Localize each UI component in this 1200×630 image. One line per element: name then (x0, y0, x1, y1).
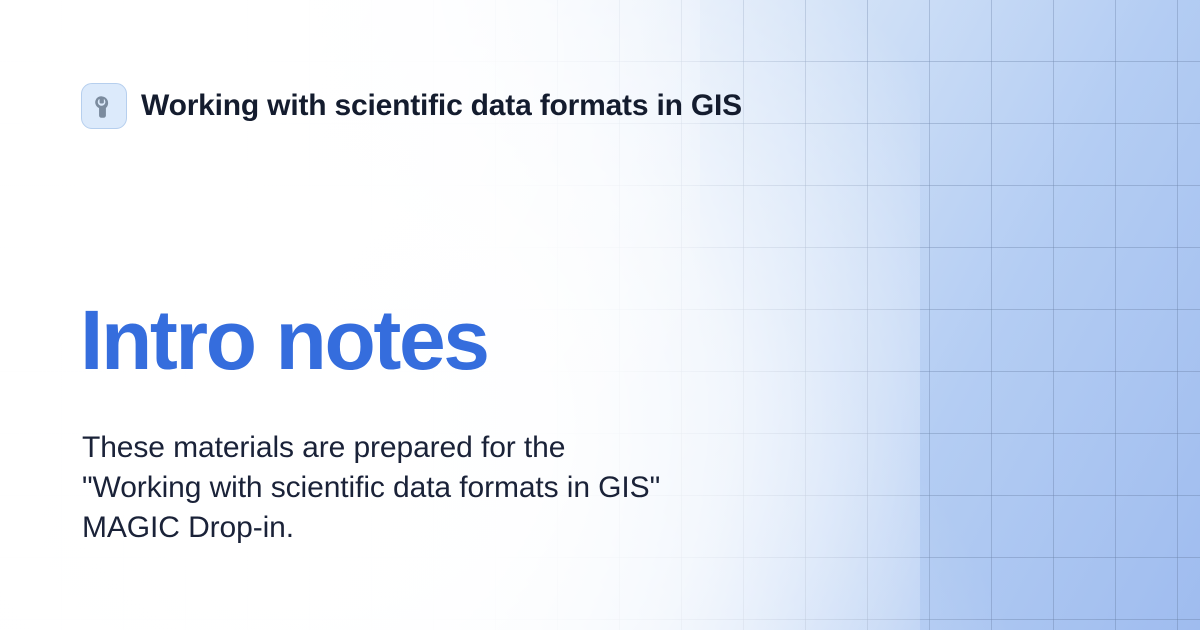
page-title: Intro notes (80, 298, 488, 382)
wrench-icon-badge (81, 83, 127, 129)
wrench-icon (91, 93, 117, 119)
slide-card: Working with scientific data formats in … (0, 0, 1200, 630)
page-description: These materials are prepared for the "Wo… (82, 428, 660, 548)
header-row: Working with scientific data formats in … (81, 83, 742, 129)
header-title: Working with scientific data formats in … (141, 89, 742, 123)
